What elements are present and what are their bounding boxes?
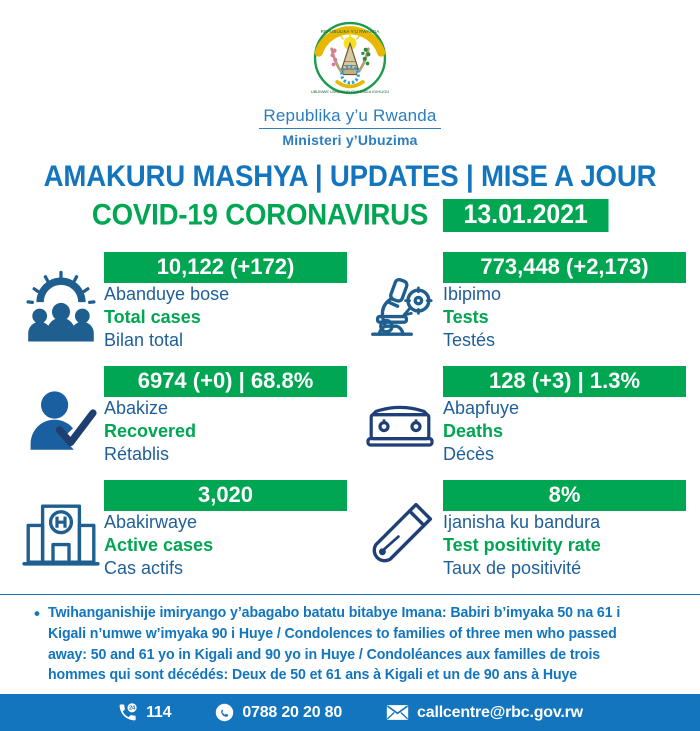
stat-label-fr: Cas actifs bbox=[104, 557, 347, 580]
footer-phone-text: 114 bbox=[146, 704, 171, 722]
stat-deaths: 128 (+3) | 1.3% Abapfuye Deaths Décès bbox=[357, 364, 686, 472]
stat-active-cases: 3,020 Abakirwaye Active cases Cas actifs bbox=[18, 478, 347, 586]
person-check-icon bbox=[18, 378, 104, 464]
footer-whatsapp-text: 0788 20 20 80 bbox=[242, 704, 342, 722]
stat-label-rw: Abanduye bose bbox=[104, 283, 347, 306]
hospital-icon bbox=[18, 492, 104, 578]
stats-grid: 10,122 (+172) Abanduye bose Total cases … bbox=[0, 250, 700, 586]
phone-24h-icon: 24 bbox=[117, 702, 138, 723]
headline: AMAKURU MASHYA | UPDATES | MISE A JOUR C… bbox=[0, 162, 700, 232]
stat-total-cases: 10,122 (+172) Abanduye bose Total cases … bbox=[18, 250, 347, 358]
stat-label-fr: Bilan total bbox=[104, 329, 347, 352]
stat-label-fr: Testés bbox=[443, 329, 686, 352]
envelope-icon bbox=[386, 704, 409, 721]
coffin-icon bbox=[357, 378, 443, 464]
rwanda-coat-of-arms-icon: REPUBULIKA Y'U RWANDA UBUMWE UMURIMO GUK… bbox=[304, 12, 396, 104]
stat-value: 6974 (+0) | 68.8% bbox=[104, 366, 347, 397]
stat-value: 773,448 (+2,173) bbox=[443, 252, 686, 283]
stat-label-rw: Abakirwaye bbox=[104, 511, 347, 534]
stat-label-rw: Ibipimo bbox=[443, 283, 686, 306]
stat-label-rw: Abapfuye bbox=[443, 397, 686, 420]
stat-label-en: Active cases bbox=[104, 534, 347, 557]
footer-whatsapp[interactable]: 0788 20 20 80 bbox=[215, 703, 342, 722]
stat-tests: 773,448 (+2,173) Ibipimo Tests Testés bbox=[357, 250, 686, 358]
stat-label-en: Total cases bbox=[104, 306, 347, 329]
stat-value: 8% bbox=[443, 480, 686, 511]
stat-total-cases-body: 10,122 (+172) Abanduye bose Total cases … bbox=[104, 250, 347, 352]
footer-phone[interactable]: 24 114 bbox=[117, 702, 171, 723]
stat-positivity-rate: 8% Ijanisha ku bandura Test positivity r… bbox=[357, 478, 686, 586]
svg-text:UBUMWE UMURIMO GUKUNDA IGIHU: UBUMWE UMURIMO GUKUNDA IGIHUGU bbox=[311, 89, 390, 94]
stat-positivity-rate-body: 8% Ijanisha ku bandura Test positivity r… bbox=[443, 478, 686, 580]
stat-value: 128 (+3) | 1.3% bbox=[443, 366, 686, 397]
headline-updates: AMAKURU MASHYA | UPDATES | MISE A JOUR bbox=[28, 162, 672, 193]
headline-second-line: COVID-19 CORONAVIRUS 13.01.2021 bbox=[28, 199, 672, 233]
stat-label-rw: Abakize bbox=[104, 397, 347, 420]
header-logo-block: REPUBULIKA Y'U RWANDA UBUMWE UMURIMO GUK… bbox=[0, 0, 700, 148]
stat-deaths-body: 128 (+3) | 1.3% Abapfuye Deaths Décès bbox=[443, 364, 686, 466]
contact-footer: 24 114 0788 20 20 80 callcentre@rbc.gov.… bbox=[0, 694, 700, 731]
stat-active-cases-body: 3,020 Abakirwaye Active cases Cas actifs bbox=[104, 478, 347, 580]
footer-email-text: callcentre@rbc.gov.rw bbox=[417, 704, 583, 722]
note-bullet: • bbox=[26, 603, 48, 686]
stat-value: 3,020 bbox=[104, 480, 347, 511]
ministry-name: Ministeri y’Ubuzima bbox=[0, 132, 700, 148]
report-date-badge: 13.01.2021 bbox=[443, 199, 608, 233]
svg-text:24: 24 bbox=[129, 706, 136, 712]
stat-label-fr: Décès bbox=[443, 443, 686, 466]
test-tube-icon bbox=[357, 492, 443, 578]
stat-label-rw: Ijanisha ku bandura bbox=[443, 511, 686, 534]
note-text: Twihanganishije imiryango y’abagabo bata… bbox=[48, 603, 655, 686]
stat-label-en: Test positivity rate bbox=[443, 534, 686, 557]
microscope-icon bbox=[357, 264, 443, 350]
stat-label-en: Deaths bbox=[443, 420, 686, 443]
headline-covid-label: COVID-19 CORONAVIRUS bbox=[92, 198, 428, 231]
stat-value: 10,122 (+172) bbox=[104, 252, 347, 283]
footer-email[interactable]: callcentre@rbc.gov.rw bbox=[386, 704, 583, 722]
stat-label-en: Recovered bbox=[104, 420, 347, 443]
note-section: • Twihanganishije imiryango y’abagabo ba… bbox=[0, 595, 700, 686]
whatsapp-icon bbox=[215, 703, 234, 722]
government-name: Republika y’u Rwanda bbox=[259, 106, 440, 129]
stat-label-en: Tests bbox=[443, 306, 686, 329]
stat-recovered: 6974 (+0) | 68.8% Abakize Recovered Réta… bbox=[18, 364, 347, 472]
stat-label-fr: Rétablis bbox=[104, 443, 347, 466]
stat-label-fr: Taux de positivité bbox=[443, 557, 686, 580]
stat-tests-body: 773,448 (+2,173) Ibipimo Tests Testés bbox=[443, 250, 686, 352]
virus-people-icon bbox=[18, 264, 104, 350]
stat-recovered-body: 6974 (+0) | 68.8% Abakize Recovered Réta… bbox=[104, 364, 347, 466]
